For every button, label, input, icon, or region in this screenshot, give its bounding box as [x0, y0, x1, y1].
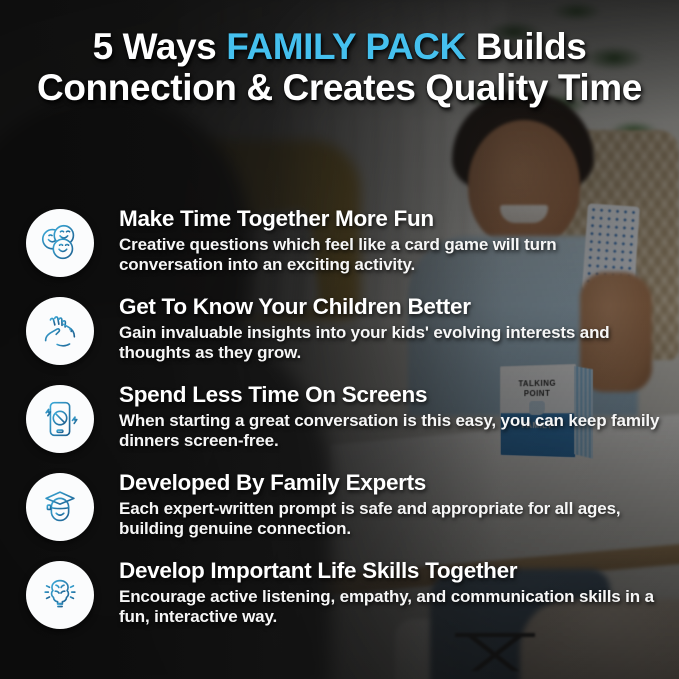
feature-description: Encourage active listening, empathy, and… [119, 587, 665, 628]
feature-text: Develop Important Life Skills Together E… [119, 555, 665, 628]
feature-title: Get To Know Your Children Better [119, 294, 665, 320]
three-smiley-faces-icon [26, 209, 94, 277]
list-item: Developed By Family Experts Each expert-… [0, 467, 679, 555]
headline-accent: FAMILY PACK [226, 26, 466, 67]
feature-text: Developed By Family Experts Each expert-… [119, 467, 665, 540]
feature-title: Developed By Family Experts [119, 470, 665, 496]
list-item: Spend Less Time On Screens When starting… [0, 379, 679, 467]
no-phone-screen-icon [26, 385, 94, 453]
feature-text: Spend Less Time On Screens When starting… [119, 379, 665, 452]
promotional-poster: TALKING POINT FAMILY 5 Ways FAMILY PACK … [0, 0, 679, 679]
page-title: 5 Ways FAMILY PACK Builds Connection & C… [0, 26, 679, 109]
feature-title: Spend Less Time On Screens [119, 382, 665, 408]
list-item: Make Time Together More Fun Creative que… [0, 203, 679, 291]
feature-list: Make Time Together More Fun Creative que… [0, 203, 679, 651]
brain-lightbulb-icon [26, 561, 94, 629]
feature-text: Make Time Together More Fun Creative que… [119, 203, 665, 276]
feature-description: Creative questions which feel like a car… [119, 235, 665, 276]
headline-line2: Connection & Creates Quality Time [14, 67, 665, 108]
feature-description: When starting a great conversation is th… [119, 411, 665, 452]
headline-part1: 5 Ways [93, 26, 227, 67]
graduate-face-icon [26, 473, 94, 541]
list-item: Develop Important Life Skills Together E… [0, 555, 679, 651]
feature-title: Develop Important Life Skills Together [119, 558, 665, 584]
poster-content: 5 Ways FAMILY PACK Builds Connection & C… [0, 0, 679, 679]
feature-description: Each expert-written prompt is safe and a… [119, 499, 665, 540]
list-item: Get To Know Your Children Better Gain in… [0, 291, 679, 379]
headline-part2: Builds [466, 26, 587, 67]
feature-title: Make Time Together More Fun [119, 206, 665, 232]
feature-description: Gain invaluable insights into your kids'… [119, 323, 665, 364]
clasped-hands-icon [26, 297, 94, 365]
feature-text: Get To Know Your Children Better Gain in… [119, 291, 665, 364]
